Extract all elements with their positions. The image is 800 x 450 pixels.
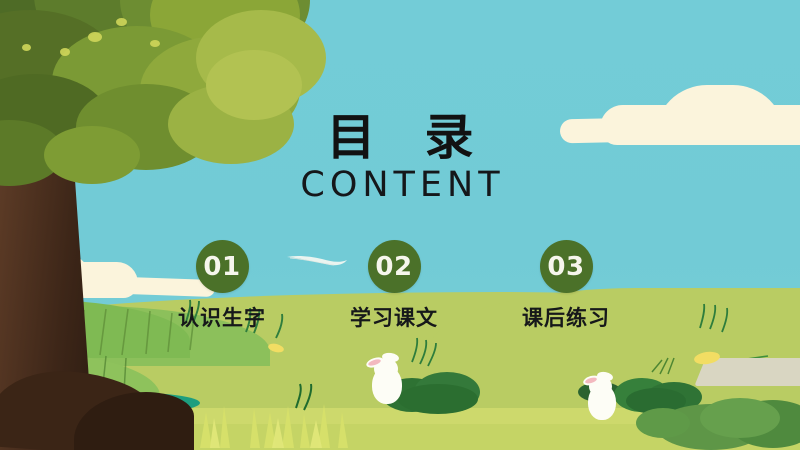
agenda-number-badge-02[interactable]: 02 — [368, 240, 421, 293]
agenda-label-02: 学习课文 — [294, 302, 494, 332]
agenda-number-02: 02 — [375, 252, 412, 282]
slide-canvas: 目 录 CONTENT 01 认识生字 02 学习课文 03 课后练习 — [0, 0, 800, 450]
agenda-item-02[interactable]: 02 学习课文 — [294, 240, 494, 332]
agenda-item-03[interactable]: 03 课后练习 — [466, 240, 666, 332]
agenda-number-03: 03 — [547, 252, 584, 282]
agenda-label-01: 认识生字 — [122, 302, 322, 332]
page-title-en: CONTENT — [0, 165, 800, 206]
agenda-item-01[interactable]: 01 认识生字 — [122, 240, 322, 332]
agenda-number-badge-03[interactable]: 03 — [540, 240, 593, 293]
title-block: 目 录 CONTENT — [0, 112, 800, 206]
agenda-number-01: 01 — [203, 252, 240, 282]
page-title-cn: 目 录 — [0, 112, 800, 165]
agenda-number-badge-01[interactable]: 01 — [196, 240, 249, 293]
agenda-list: 01 认识生字 02 学习课文 03 课后练习 — [0, 240, 800, 340]
agenda-label-03: 课后练习 — [466, 302, 666, 332]
